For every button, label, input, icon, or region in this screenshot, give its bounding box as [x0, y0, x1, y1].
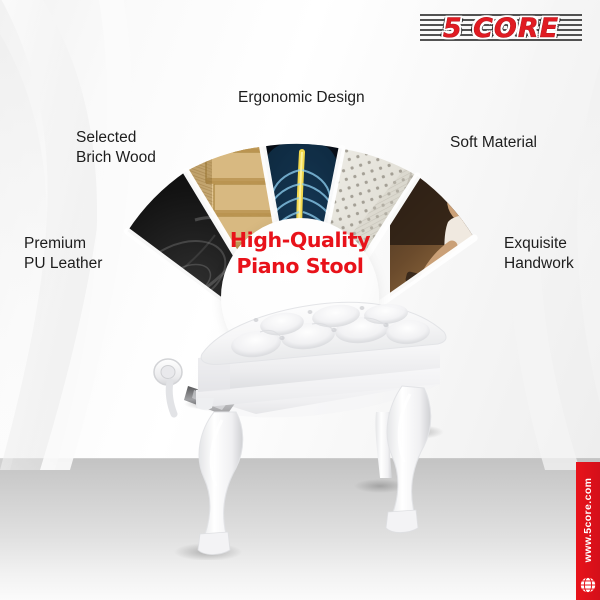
page-title: High-Quality Piano Stool [216, 228, 384, 279]
feature-label-wood: Selected Brich Wood [76, 128, 156, 169]
brand-logo: 5 CORE [418, 8, 584, 48]
feature-label-ergonomic: Ergonomic Design [238, 88, 365, 108]
website-url: www.5core.com [582, 456, 594, 584]
title-line-1: High-Quality [230, 228, 370, 252]
infographic-canvas: 5 CORE [0, 0, 600, 600]
product-piano-stool [140, 280, 470, 560]
feature-label-handwork: Exquisite Handwork [504, 234, 574, 275]
title-line-2: Piano Stool [216, 254, 384, 280]
globe-emblem-icon [579, 576, 597, 594]
feature-label-soft-material: Soft Material [450, 133, 537, 153]
brand-logo-text: 5 CORE [418, 8, 584, 48]
feature-label-leather: Premium PU Leather [24, 234, 102, 275]
website-strip[interactable]: www.5core.com [576, 462, 600, 600]
